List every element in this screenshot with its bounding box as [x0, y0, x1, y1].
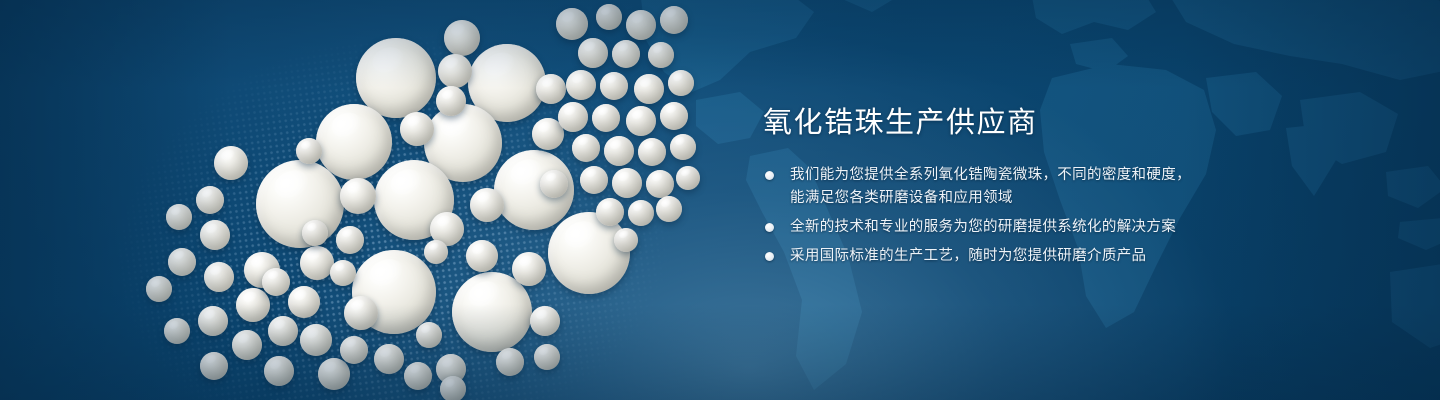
bullet-text-line: 我们能为您提供全系列氧化锆陶瓷微珠，不同的密度和硬度， [790, 164, 1363, 187]
bead [424, 240, 448, 264]
bead [572, 134, 600, 162]
bead [198, 306, 228, 336]
bead [648, 42, 674, 68]
bead [614, 228, 638, 252]
bead [596, 198, 624, 226]
list-item: 我们能为您提供全系列氧化锆陶瓷微珠，不同的密度和硬度， 能满足您各类研磨设备和应… [763, 164, 1363, 210]
bead [512, 252, 546, 286]
bead [262, 268, 290, 296]
bead [444, 20, 480, 56]
list-item: 全新的技术和专业的服务为您的研磨提供系统化的解决方案 [763, 216, 1363, 239]
bead [592, 104, 620, 132]
bead [540, 170, 568, 198]
feature-bullet-list: 我们能为您提供全系列氧化锆陶瓷微珠，不同的密度和硬度， 能满足您各类研磨设备和应… [763, 164, 1363, 268]
bead [164, 318, 190, 344]
bead [548, 212, 630, 294]
bead [578, 38, 608, 68]
bead [264, 356, 294, 386]
bead [470, 188, 504, 222]
bead [200, 220, 230, 250]
bead [646, 170, 674, 198]
bead [166, 204, 192, 230]
bead [668, 70, 694, 96]
bead [340, 336, 368, 364]
bead [556, 8, 588, 40]
bullet-text-line: 全新的技术和专业的服务为您的研磨提供系统化的解决方案 [790, 216, 1363, 239]
bead [530, 306, 560, 336]
bead [236, 288, 270, 322]
bead [168, 248, 196, 276]
bullet-dot-icon [765, 223, 774, 232]
bead [336, 226, 364, 254]
bead [330, 260, 356, 286]
bead [670, 134, 696, 160]
bead [400, 112, 434, 146]
bead [344, 296, 378, 330]
page-title: 氧化锆珠生产供应商 [763, 108, 1363, 140]
hero-banner: 氧化锆珠生产供应商 我们能为您提供全系列氧化锆陶瓷微珠，不同的密度和硬度， 能满… [0, 0, 1440, 400]
bead [436, 86, 466, 116]
bead [634, 74, 664, 104]
bead [288, 286, 320, 318]
bead [566, 70, 596, 100]
bead [268, 316, 298, 346]
bead [596, 4, 622, 30]
bead [200, 352, 228, 380]
bead [440, 376, 466, 400]
bead [612, 168, 642, 198]
bead [256, 160, 344, 248]
bead [374, 344, 404, 374]
bead [536, 74, 566, 104]
bead [300, 324, 332, 356]
bead [416, 322, 442, 348]
bead [626, 106, 656, 136]
bead [626, 10, 656, 40]
bullet-dot-icon [765, 252, 774, 261]
bead [146, 276, 172, 302]
bullet-text-line: 采用国际标准的生产工艺，随时为您提供研磨介质产品 [790, 245, 1363, 268]
bead [204, 262, 234, 292]
bead [604, 136, 634, 166]
bead [612, 40, 640, 68]
bead [318, 358, 350, 390]
list-item: 采用国际标准的生产工艺，随时为您提供研磨介质产品 [763, 245, 1363, 268]
bead [580, 166, 608, 194]
bead [676, 166, 700, 190]
bead [496, 348, 524, 376]
bead [214, 146, 248, 180]
bead [660, 6, 688, 34]
bullet-dot-icon [765, 171, 774, 180]
bead [638, 138, 666, 166]
zirconia-bead-cluster [0, 0, 720, 400]
bead [656, 196, 682, 222]
bead [232, 330, 262, 360]
bead [600, 72, 628, 100]
bead [558, 102, 588, 132]
bead [438, 54, 472, 88]
bead [404, 362, 432, 390]
bead [660, 102, 688, 130]
bead [628, 200, 654, 226]
bead [302, 220, 328, 246]
bead [296, 138, 322, 164]
bead [300, 246, 334, 280]
bullet-text-line: 能满足您各类研磨设备和应用领域 [790, 187, 1363, 210]
bead [466, 240, 498, 272]
bead [196, 186, 224, 214]
bead [340, 178, 376, 214]
banner-content: 氧化锆珠生产供应商 我们能为您提供全系列氧化锆陶瓷微珠，不同的密度和硬度， 能满… [763, 108, 1363, 268]
bead [534, 344, 560, 370]
